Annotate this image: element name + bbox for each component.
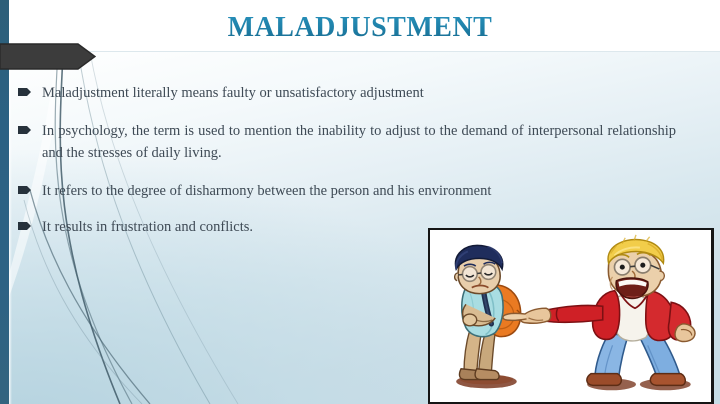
title-band-divider — [0, 51, 720, 52]
spacer — [18, 104, 694, 120]
list-item: In psychology, the term is used to menti… — [18, 120, 694, 164]
list-item: Maladjustment literally means faulty or … — [18, 82, 694, 104]
bullet-list: Maladjustment literally means faulty or … — [18, 82, 694, 238]
presentation-slide: MALADJUSTMENT Maladjustment literally me… — [0, 0, 720, 404]
arrow-banner-shape — [0, 42, 96, 71]
list-item-text: It refers to the degree of disharmony be… — [42, 180, 694, 202]
spacer — [18, 202, 694, 216]
list-item-text: Maladjustment literally means faulty or … — [42, 82, 694, 104]
cartoon-illustration — [430, 230, 711, 402]
bullying-cartoon-image — [428, 228, 714, 404]
slide-title: MALADJUSTMENT — [0, 12, 720, 44]
spacer — [18, 164, 694, 180]
arrow-flag-bullet-icon — [18, 87, 32, 97]
arrow-flag-bullet-icon — [18, 185, 32, 195]
arrow-flag-bullet-icon — [18, 125, 32, 135]
arrow-flag-bullet-icon — [18, 221, 32, 231]
list-item-text: In psychology, the term is used to menti… — [42, 120, 694, 164]
list-item: It refers to the degree of disharmony be… — [18, 180, 694, 202]
